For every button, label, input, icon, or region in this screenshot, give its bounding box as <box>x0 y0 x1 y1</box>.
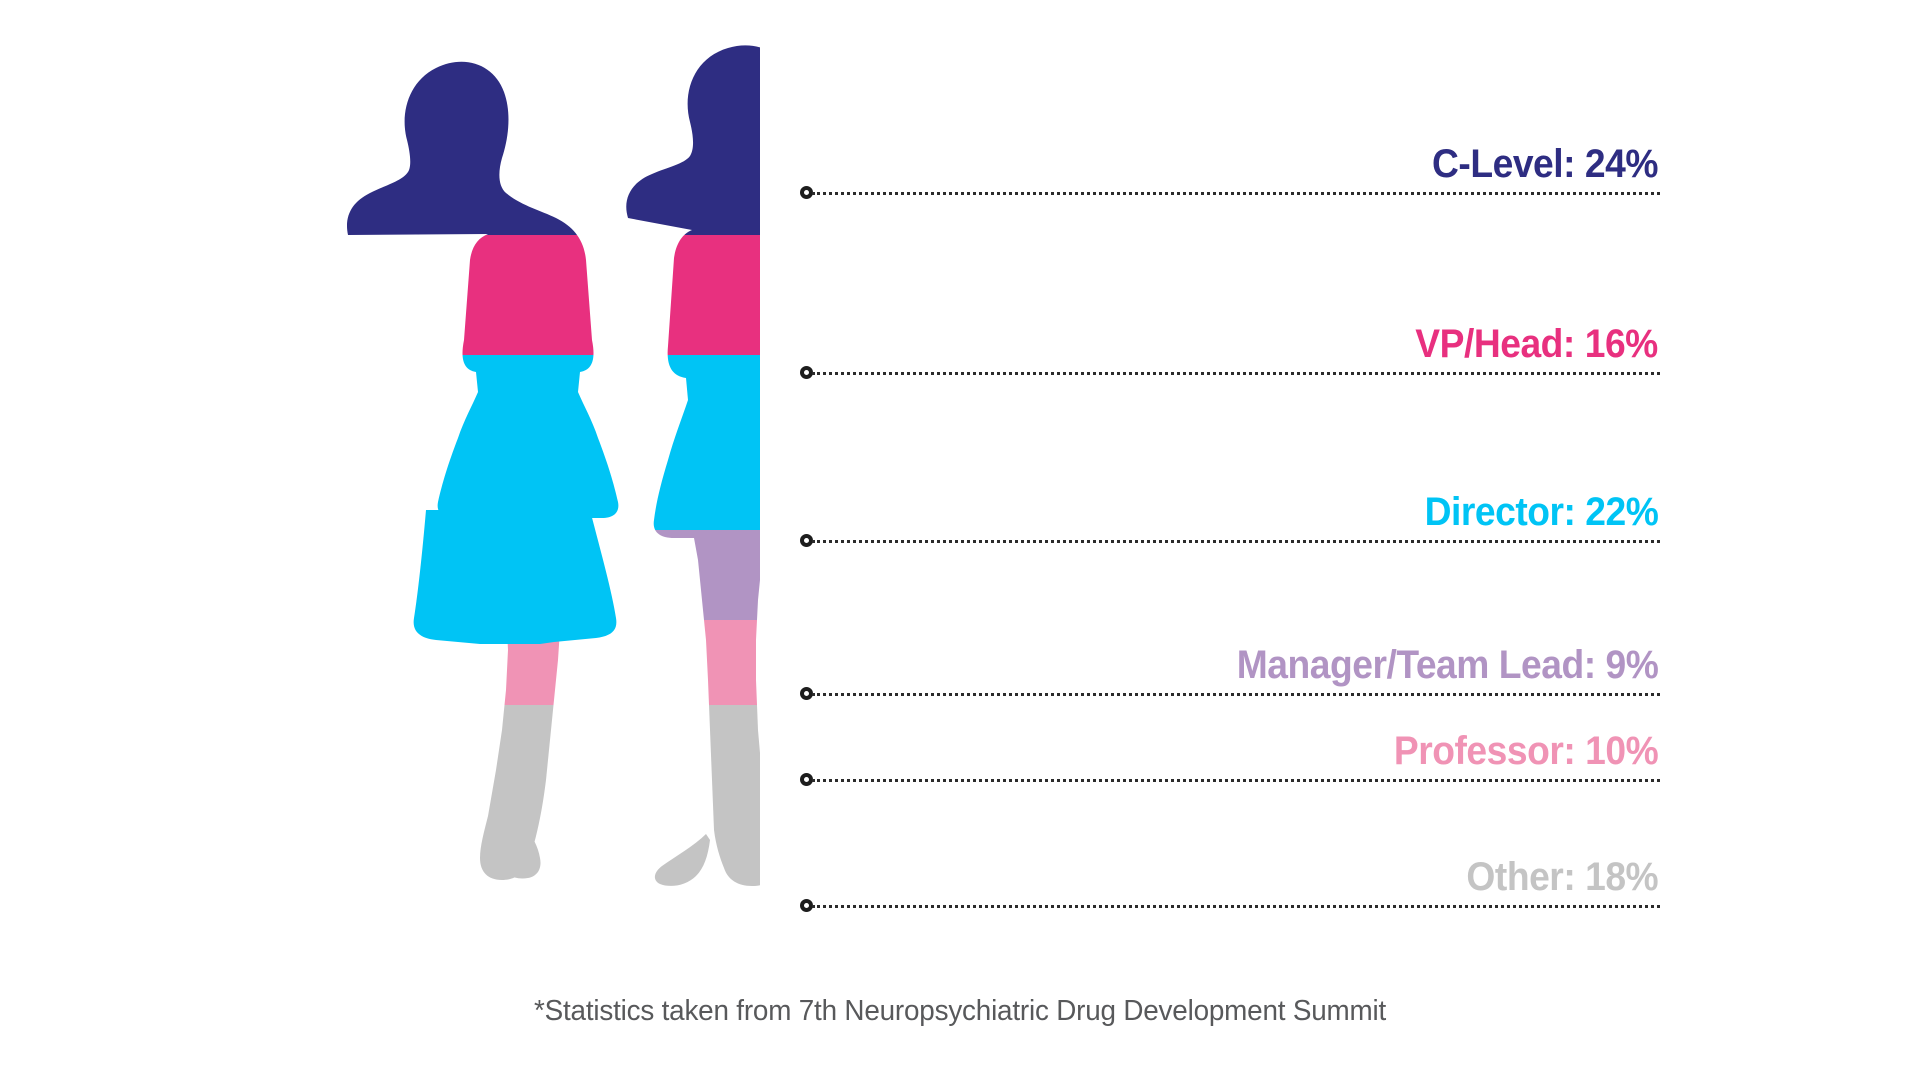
footnote-text: *Statistics taken from 7th Neuropsychiat… <box>38 995 1881 1028</box>
leader-line-director <box>812 540 1660 543</box>
legend-label-manager-team-lead: Manager/Team Lead: 9% <box>1236 645 1658 685</box>
leader-line-other <box>812 905 1660 908</box>
male-shoe-left <box>655 834 710 886</box>
legend-label-professor: Professor: 10% <box>1394 731 1658 771</box>
legend-label-c-level: C-Level: 24% <box>1432 144 1658 184</box>
legend-label-vp-head: VP/Head: 16% <box>1415 324 1658 364</box>
legend-label-director: Director: 22% <box>1424 492 1658 532</box>
leader-line-manager-team-lead <box>812 693 1660 696</box>
leader-line-professor <box>812 779 1660 782</box>
leader-line-c-level <box>812 192 1660 195</box>
leader-line-vp-head <box>812 372 1660 375</box>
silhouette-figures <box>240 40 760 970</box>
legend-list: C-Level: 24% VP/Head: 16% Director: 22% … <box>800 0 1660 960</box>
figures-svg <box>240 40 760 970</box>
seniority-infographic: C-Level: 24% VP/Head: 16% Director: 22% … <box>0 0 1920 1080</box>
legend-label-other: Other: 18% <box>1466 857 1658 897</box>
